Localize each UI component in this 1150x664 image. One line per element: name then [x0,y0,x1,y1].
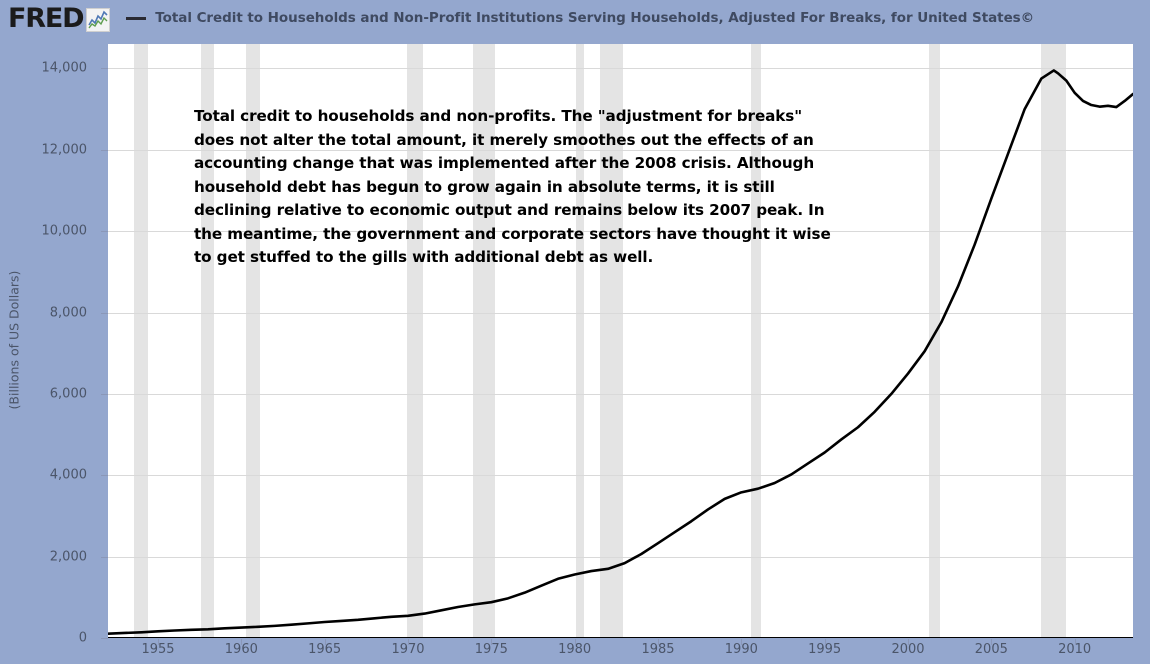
y-axis-tick-label: 4,000 [0,468,99,483]
y-axis-tick-mark [101,150,108,151]
y-axis-tick-label: 12,000 [0,142,99,157]
fred-wordmark: FRED [8,5,83,32]
y-axis-title: (Billions of US Dollars) [7,240,22,440]
x-axis-tick-label: 1980 [558,642,591,657]
x-axis-tick-mark [825,639,826,645]
x-axis-tick-label: 1955 [141,642,174,657]
legend-line-swatch [126,17,146,20]
chart-header: FRED Total Credit to Households and Non-… [0,0,1150,36]
x-axis-tick-label: 2000 [891,642,924,657]
x-axis-tick-label: 1970 [391,642,424,657]
y-axis-tick-label: 2,000 [0,549,99,564]
annotation-text: Total credit to households and non-profi… [194,105,839,270]
x-axis-tick-label: 1960 [225,642,258,657]
x-axis-tick-mark [325,639,326,645]
x-axis-tick-mark [658,639,659,645]
x-axis-tick-label: 1965 [308,642,341,657]
x-axis-baseline [108,637,1133,638]
x-axis-tick-label: 1975 [475,642,508,657]
x-axis-tick-label: 1990 [725,642,758,657]
y-axis-tick-mark [101,313,108,314]
x-axis-tick-mark [908,639,909,645]
sparkline-icon [86,8,110,32]
y-axis-tick-label: 14,000 [0,61,99,76]
x-axis-tick-label: 2005 [975,642,1008,657]
x-axis-tick-mark [408,639,409,645]
x-axis-tick-mark [1075,639,1076,645]
fred-logo[interactable]: FRED [8,5,110,32]
x-axis-tick-mark [741,639,742,645]
x-axis-tick-mark [575,639,576,645]
y-axis-tick-mark [101,231,108,232]
x-axis-tick-label: 2010 [1058,642,1091,657]
x-axis-tick-label: 1995 [808,642,841,657]
x-axis-tick-mark [991,639,992,645]
x-axis-tick-mark [158,639,159,645]
y-axis-tick-label: 10,000 [0,224,99,239]
legend-series-label: Total Credit to Households and Non-Profi… [155,10,1034,26]
y-axis-tick-label: 6,000 [0,386,99,401]
y-axis-tick-mark [101,638,108,639]
y-axis-tick-mark [101,557,108,558]
y-axis-tick-mark [101,394,108,395]
y-axis-tick-label: 8,000 [0,305,99,320]
x-axis-tick-mark [241,639,242,645]
y-axis-tick-label: 0 [0,631,99,646]
x-axis-tick-mark [491,639,492,645]
x-axis-tick-label: 1985 [641,642,674,657]
y-axis-tick-mark [101,68,108,69]
y-axis-tick-mark [101,475,108,476]
